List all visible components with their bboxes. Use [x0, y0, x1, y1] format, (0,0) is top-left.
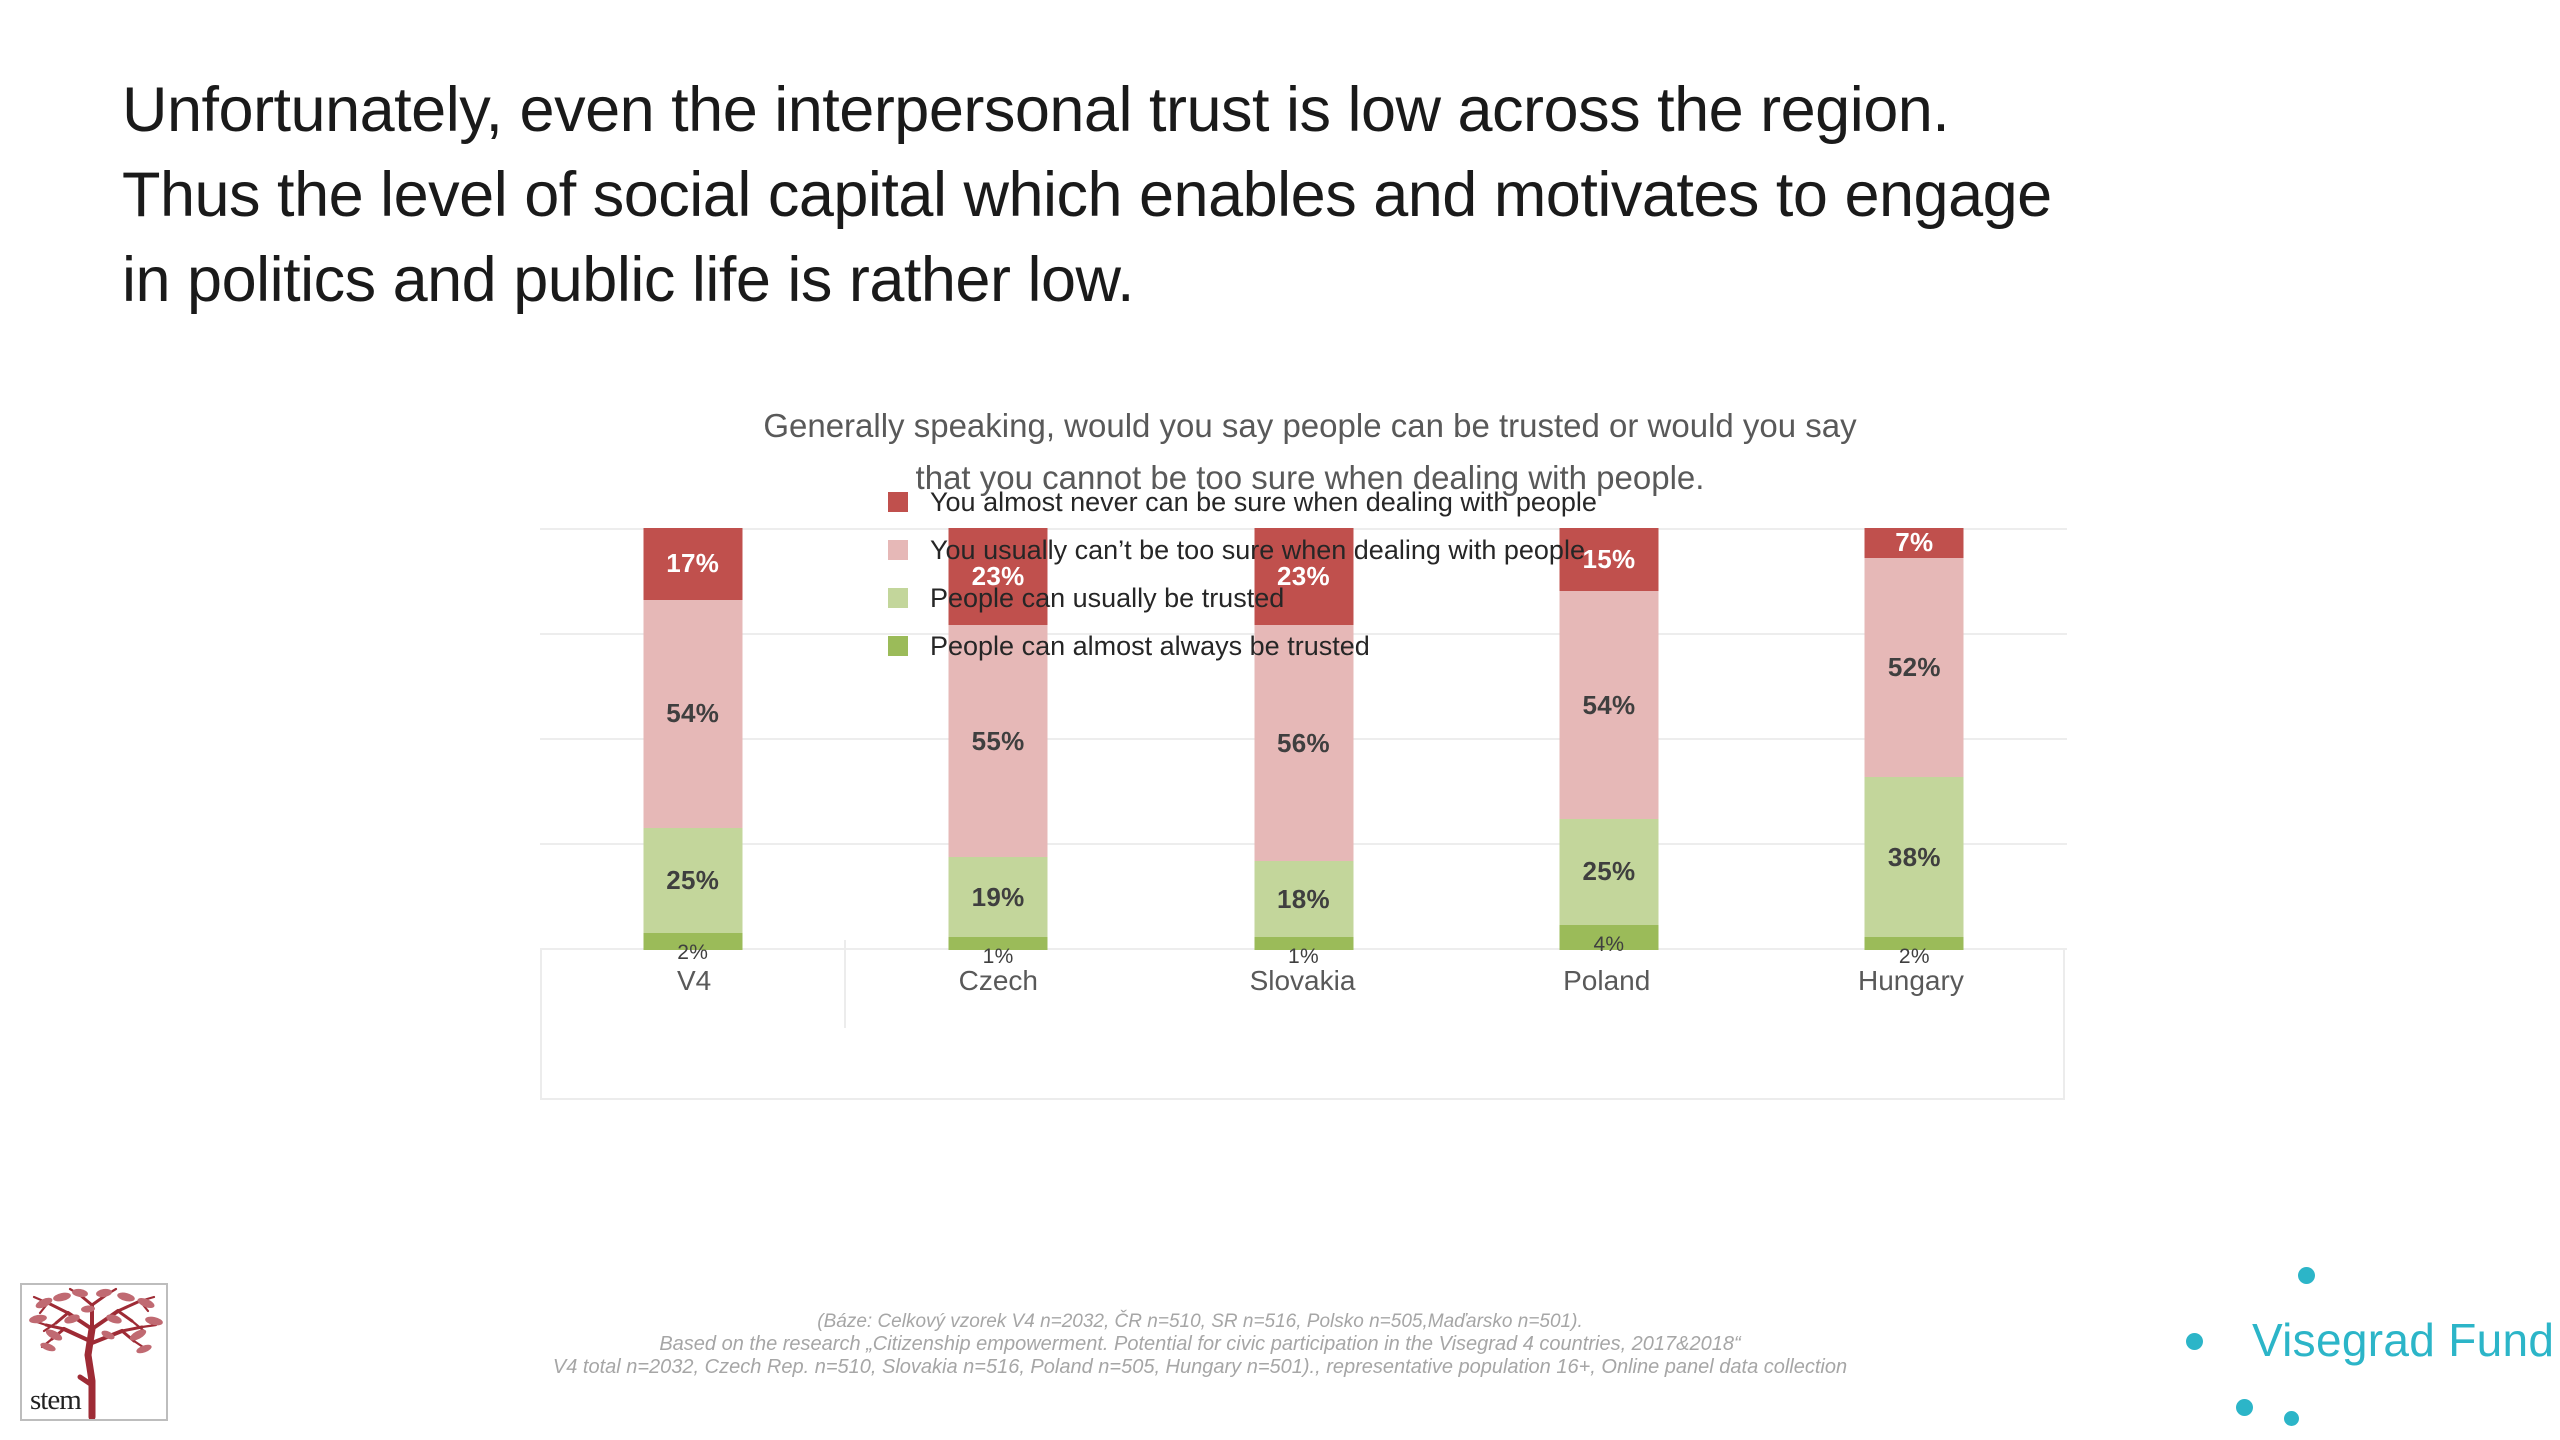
x-axis-label-poland: Poland [1455, 950, 1759, 1012]
footnote-line-1: (Báze: Celkový vzorek V4 n=2032, ČR n=51… [330, 1310, 2070, 1333]
axis-and-legend-box: V4 Czech Slovakia Poland Hungary [540, 950, 2065, 1100]
chart-legend: You almost never can be sure when dealin… [888, 478, 1988, 670]
bar-segment-usually-trusted: 25% [643, 828, 742, 934]
bar-column-v4: 17% 54% 25% 2% [540, 528, 845, 950]
stem-wordmark: stem [30, 1384, 81, 1417]
legend-item-usually-cant-be-sure: You usually can’t be too sure when deali… [888, 526, 1988, 574]
stem-logo: stem [20, 1283, 168, 1421]
legend-item-almost-always-trusted: People can almost always be trusted [888, 622, 1988, 670]
bar-segment-usually-cant-be-sure: 54% [643, 600, 742, 828]
legend-label-almost-always-trusted: People can almost always be trusted [930, 631, 1370, 662]
page-title: Unfortunately, even the interpersonal tr… [122, 68, 2422, 323]
bar-segment-almost-always-trusted: 4% [1559, 925, 1658, 950]
bar-segment-usually-trusted: 18% [1254, 861, 1353, 937]
bar-segment-usually-trusted: 38% [1865, 777, 1964, 937]
x-axis-label-v4: V4 [542, 950, 846, 1012]
x-axis-labels: V4 Czech Slovakia Poland Hungary [542, 950, 2063, 1012]
legend-swatch-icon-almost-always-trusted [888, 636, 908, 656]
legend-swatch-icon-usually-cant-be-sure [888, 540, 908, 560]
visegrad-dot-icon-left [2186, 1333, 2203, 1350]
visegrad-fund-logo: Visegrad Fund [2180, 1255, 2550, 1435]
bar-segment-almost-always-trusted: 1% [1254, 937, 1353, 950]
page-title-line-2: Thus the level of social capital which e… [122, 153, 2422, 238]
bar-segment-almost-always-trusted: 2% [643, 933, 742, 950]
stacked-bar: 17% 54% 25% 2% [643, 528, 742, 950]
x-axis-label-hungary: Hungary [1759, 950, 2063, 1012]
bar-segment-usually-trusted: 25% [1559, 819, 1658, 925]
visegrad-dot-icon-top [2298, 1267, 2315, 1284]
bar-segment-never-sure: 17% [643, 528, 742, 600]
footnote-line-3: V4 total n=2032, Czech Rep. n=510, Slova… [330, 1356, 2070, 1379]
stacked-bar-chart: Generally speaking, would you say people… [540, 400, 2080, 1100]
bar-segment-usually-trusted: 19% [949, 857, 1048, 937]
bar-segment-almost-always-trusted: 2% [1865, 937, 1964, 950]
legend-item-never-sure: You almost never can be sure when dealin… [888, 478, 1988, 526]
legend-item-usually-trusted: People can usually be trusted [888, 574, 1988, 622]
legend-label-usually-cant-be-sure: You usually can’t be too sure when deali… [930, 535, 1585, 566]
page-title-line-3: in politics and public life is rather lo… [122, 238, 2422, 323]
legend-swatch-icon-never-sure [888, 492, 908, 512]
visegrad-dot-icon-bottom-left [2236, 1399, 2253, 1416]
legend-label-usually-trusted: People can usually be trusted [930, 583, 1284, 614]
page-title-line-1: Unfortunately, even the interpersonal tr… [122, 68, 2422, 153]
legend-label-never-sure: You almost never can be sure when dealin… [930, 487, 1597, 518]
legend-swatch-icon-usually-trusted [888, 588, 908, 608]
x-axis-label-czech: Czech [846, 950, 1150, 1012]
bar-segment-almost-always-trusted: 1% [949, 937, 1048, 950]
chart-title-line-1: Generally speaking, would you say people… [620, 400, 2000, 452]
footnote-line-2: Based on the research „Citizenship empow… [330, 1333, 2070, 1356]
visegrad-dot-icon-bottom-right [2284, 1411, 2299, 1426]
visegrad-fund-wordmark: Visegrad Fund [2252, 1313, 2554, 1367]
footnote: (Báze: Celkový vzorek V4 n=2032, ČR n=51… [330, 1310, 2070, 1379]
x-axis-label-slovakia: Slovakia [1150, 950, 1454, 1012]
